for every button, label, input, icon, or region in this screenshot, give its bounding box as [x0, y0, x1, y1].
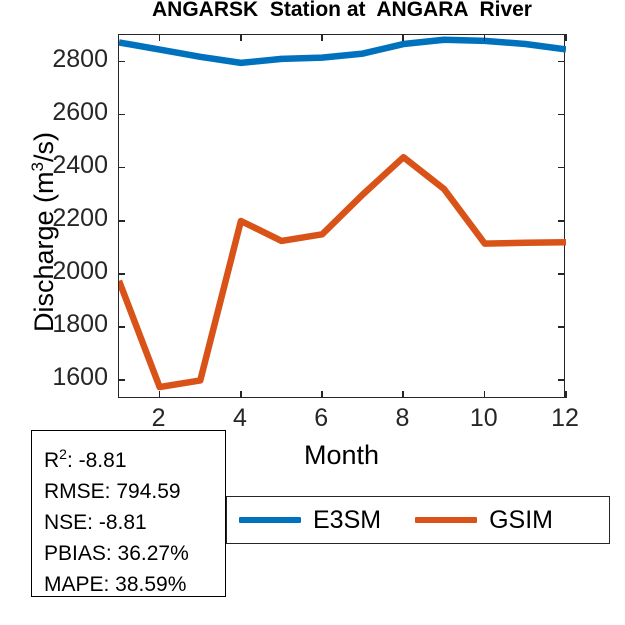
x-tick-mark	[159, 34, 161, 41]
legend-color-swatch-e3sm	[239, 517, 301, 523]
x-tick-label: 10	[454, 404, 514, 433]
stat-r2: R2: -8.81	[44, 439, 225, 476]
x-tick-label: 4	[210, 404, 270, 433]
statistics-annotation-box: R2: -8.81 RMSE: 794.59 NSE: -8.81 PBIAS:…	[31, 430, 226, 597]
legend-label-gsim: GSIM	[489, 506, 553, 535]
stat-r2-exponent: 2	[59, 446, 67, 462]
figure-canvas: ANGARSK Station at ANGARA River 28002600…	[0, 0, 625, 625]
x-tick-mark	[321, 34, 323, 41]
legend-item-e3sm[interactable]: E3SM	[239, 497, 381, 543]
x-tick-mark	[321, 391, 323, 398]
x-tick-mark	[159, 391, 161, 398]
legend: E3SM GSIM	[226, 496, 610, 544]
x-tick-mark	[565, 391, 567, 398]
x-tick-label: 8	[372, 404, 432, 433]
y-axis-title-base: Discharge (m	[29, 171, 59, 332]
stat-r2-base: R	[44, 449, 59, 472]
y-axis-title-tail: /s)	[29, 132, 59, 162]
x-tick-mark	[565, 34, 567, 41]
legend-color-swatch-gsim	[415, 517, 477, 523]
stat-mape: MAPE: 38.59%	[44, 569, 225, 600]
legend-label-e3sm: E3SM	[313, 506, 381, 535]
y-axis-title: Discharge (m3/s)	[28, 42, 60, 422]
stat-rmse: RMSE: 794.59	[44, 476, 225, 507]
x-tick-mark	[240, 34, 242, 41]
x-tick-label: 6	[291, 404, 351, 433]
stat-nse: NSE: -8.81	[44, 507, 225, 538]
x-tick-label: 12	[535, 404, 595, 433]
y-axis-title-exponent: 3	[28, 162, 47, 171]
x-tick-mark	[402, 391, 404, 398]
x-tick-mark	[240, 391, 242, 398]
legend-item-gsim[interactable]: GSIM	[415, 497, 553, 543]
stat-pbias: PBIAS: 36.27%	[44, 538, 225, 569]
x-tick-mark	[484, 391, 486, 398]
x-tick-mark	[484, 34, 486, 41]
x-tick-label: 2	[129, 404, 189, 433]
stat-r2-value: : -8.81	[67, 449, 127, 472]
x-tick-mark	[402, 34, 404, 41]
